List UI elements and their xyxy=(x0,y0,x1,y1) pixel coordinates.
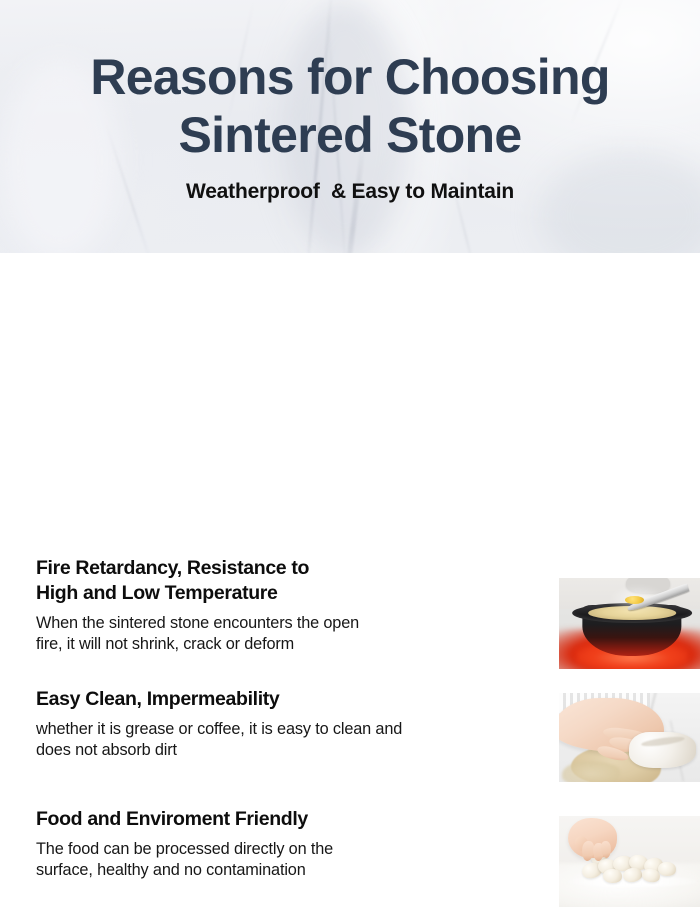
feature-description-line-2: surface, healthy and no contamination xyxy=(36,861,306,879)
page-title: Reasons for Choosing Sintered Stone xyxy=(0,48,700,164)
feature-description-line-1: When the sintered stone encounters the o… xyxy=(36,614,359,632)
feature-text-block: Easy Clean, Impermeability whether it is… xyxy=(36,687,498,761)
hot-pot-illustration xyxy=(559,578,700,669)
page-subtitle: Weatherproof & Easy to Maintain xyxy=(0,180,700,204)
feature-image-easy-clean xyxy=(559,693,700,782)
feature-description-line-2: fire, it will not shrink, crack or defor… xyxy=(36,635,294,653)
feature-title: Easy Clean, Impermeability xyxy=(36,687,498,712)
feature-description: whether it is grease or coffee, it is ea… xyxy=(36,719,498,761)
feature-title-line-2: High and Low Temperature xyxy=(36,582,278,604)
page-root: Reasons for Choosing Sintered Stone Weat… xyxy=(0,0,700,700)
feature-description-line-1: whether it is grease or coffee, it is ea… xyxy=(36,720,402,738)
dough-preparation-illustration xyxy=(559,816,700,907)
coffee-stain-splash xyxy=(562,761,620,782)
feature-text-block: Food and Enviroment Friendly The food ca… xyxy=(36,807,498,881)
feature-title: Fire Retardancy, Resistance to High and … xyxy=(36,556,498,606)
hero-content: Reasons for Choosing Sintered Stone Weat… xyxy=(0,0,700,204)
feature-title: Food and Enviroment Friendly xyxy=(36,807,498,832)
feature-text-block: Fire Retardancy, Resistance to High and … xyxy=(36,556,498,655)
page-title-line-1: Reasons for Choosing xyxy=(90,49,609,105)
hero-header: Reasons for Choosing Sintered Stone Weat… xyxy=(0,0,700,253)
dough-piece xyxy=(602,868,622,883)
cleaning-illustration xyxy=(559,693,700,782)
feature-description: The food can be processed directly on th… xyxy=(36,839,498,881)
feature-title-line-1: Fire Retardancy, Resistance to xyxy=(36,557,309,579)
page-title-line-2: Sintered Stone xyxy=(20,106,680,164)
feature-description: When the sintered stone encounters the o… xyxy=(36,613,498,655)
feature-image-food-friendly xyxy=(559,816,700,907)
feature-description-line-1: The food can be processed directly on th… xyxy=(36,840,333,858)
feature-image-fire-retardancy xyxy=(559,578,700,669)
feature-description-line-2: does not absorb dirt xyxy=(36,741,177,759)
